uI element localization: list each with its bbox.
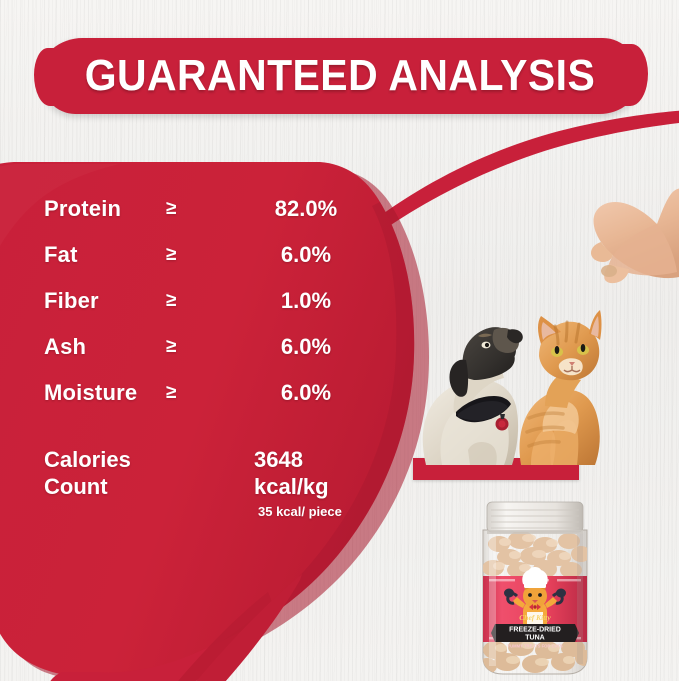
nutrient-label: Protein — [44, 196, 121, 222]
brand-script: Chef Kitty — [519, 613, 551, 622]
nutrient-operator: ≥ — [166, 382, 176, 404]
nutrition-table: Protein ≥ 82.0% Fat ≥ 6.0% Fiber ≥ 1.0% … — [44, 196, 364, 426]
calories-value-line1: 3648 — [254, 446, 329, 473]
page-title: GUARANTEED ANALYSIS — [61, 51, 619, 101]
table-row: Ash ≥ 6.0% — [44, 334, 364, 380]
table-row: Protein ≥ 82.0% — [44, 196, 364, 242]
nutrient-value: 6.0% — [246, 242, 366, 268]
calories-label-line2: Count — [44, 473, 131, 500]
nutrient-label: Fat — [44, 242, 78, 268]
calories-value-line2: kcal/kg — [254, 473, 329, 500]
nutrient-value: 6.0% — [246, 380, 366, 406]
product-name-line1: FREEZE-DRIED — [509, 627, 561, 634]
table-row: Moisture ≥ 6.0% — [44, 380, 364, 426]
calories-per-piece: 35 kcal/ piece — [258, 504, 342, 519]
calories-value: 3648 kcal/kg — [254, 446, 329, 500]
calories-label: Calories Count — [44, 446, 131, 500]
nutrient-value: 82.0% — [246, 196, 366, 222]
nutrient-operator: ≥ — [166, 198, 176, 220]
nutrient-operator: ≥ — [166, 290, 176, 312]
nutrient-value: 1.0% — [246, 288, 366, 314]
hand-holding-treat-photo — [565, 180, 679, 290]
table-row: Fiber ≥ 1.0% — [44, 288, 364, 334]
calories-row: Calories Count 3648 kcal/kg 35 kcal/ pie… — [44, 446, 374, 536]
calories-label-line1: Calories — [44, 446, 131, 473]
nutrient-operator: ≥ — [166, 244, 176, 266]
guaranteed-analysis-poster: GUARANTEED ANALYSIS Protein ≥ — [0, 0, 679, 681]
nutrient-value: 6.0% — [246, 334, 366, 360]
cat-photo — [505, 300, 611, 465]
product-name-line2: TUNA — [525, 635, 544, 642]
nutrient-label: Ash — [44, 334, 86, 360]
nutrient-operator: ≥ — [166, 336, 176, 358]
nutrient-label: Moisture — [44, 380, 137, 406]
nutrient-label: Fiber — [44, 288, 99, 314]
table-row: Fat ≥ 6.0% — [44, 242, 364, 288]
title-banner: GUARANTEED ANALYSIS — [40, 38, 640, 114]
product-jar: Chef Kitty FREEZE-DRIED TUNA YUMMY TREAT… — [473, 500, 597, 675]
product-tagline: YUMMY TREATS FOR CATS — [507, 644, 563, 649]
